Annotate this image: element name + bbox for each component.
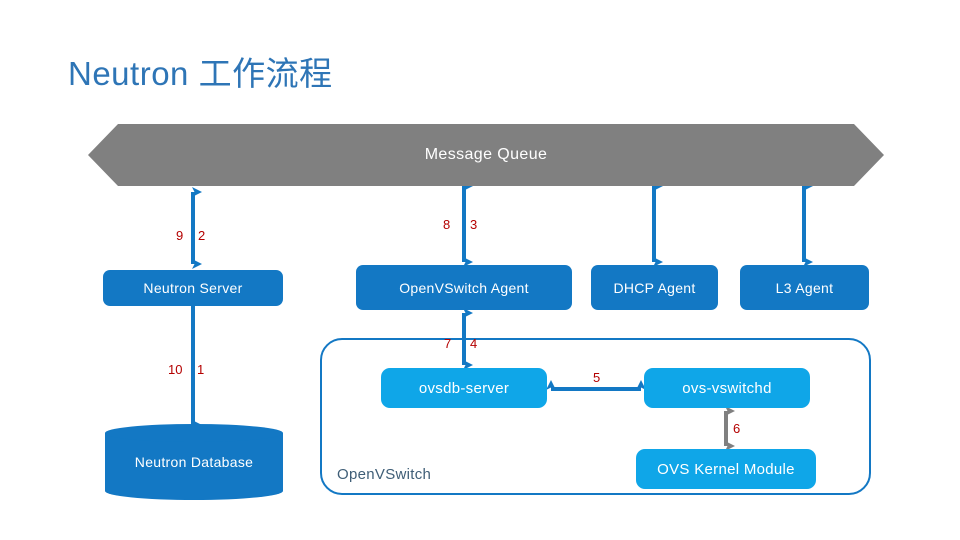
node-neutron-server[interactable]: Neutron Server — [103, 270, 283, 306]
slide-canvas: Neutron 工作流程 — [0, 0, 960, 540]
page-title: Neutron 工作流程 — [68, 52, 333, 96]
node-ovs-kernel-module[interactable]: OVS Kernel Module — [636, 449, 816, 489]
flow-step-4: 4 — [470, 337, 477, 350]
flow-step-3: 3 — [470, 218, 477, 231]
node-ovs-vswitchd[interactable]: ovs-vswitchd — [644, 368, 810, 408]
node-dhcp-agent[interactable]: DHCP Agent — [591, 265, 718, 310]
flow-step-8: 8 — [443, 218, 450, 231]
openvswitch-container-label: OpenVSwitch — [337, 466, 431, 483]
node-l3-agent[interactable]: L3 Agent — [740, 265, 869, 310]
node-ovsdb-server[interactable]: ovsdb-server — [381, 368, 547, 408]
flow-step-1: 1 — [197, 363, 204, 376]
flow-step-10: 10 — [168, 363, 182, 376]
message-queue-label: Message Queue — [425, 146, 548, 164]
flow-step-9: 9 — [176, 229, 183, 242]
flow-step-7: 7 — [444, 337, 451, 350]
node-openvswitch-agent[interactable]: OpenVSwitch Agent — [356, 265, 572, 310]
node-neutron-database[interactable]: Neutron Database — [105, 424, 283, 500]
flow-step-2: 2 — [198, 229, 205, 242]
neutron-database-label: Neutron Database — [105, 424, 283, 500]
flow-step-6: 6 — [733, 422, 740, 435]
flow-step-5: 5 — [593, 371, 600, 384]
message-queue-banner: Message Queue — [88, 124, 884, 186]
